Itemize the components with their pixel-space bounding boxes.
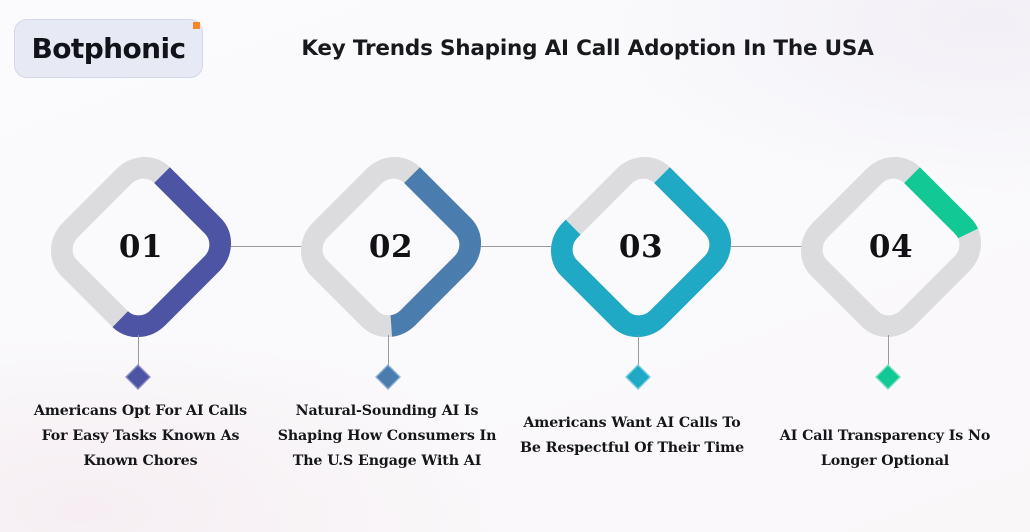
step-number-1: 01: [41, 156, 241, 338]
step-node-4[interactable]: 04: [791, 156, 991, 338]
stem-line-2: [388, 335, 390, 367]
step-node-2[interactable]: 02: [291, 156, 491, 338]
step-caption-1: Americans Opt For AI Calls For Easy Task…: [25, 399, 256, 474]
diamond-marker-1: [125, 364, 151, 390]
stem-line-3: [638, 335, 640, 367]
step-node-1[interactable]: 01: [41, 156, 241, 338]
stem-line-4: [888, 335, 890, 367]
timeline-infographic: 01 02 03 04: [0, 0, 1030, 532]
stem-line-1: [138, 335, 140, 367]
step-number-2: 02: [291, 156, 491, 338]
step-node-3[interactable]: 03: [541, 156, 741, 338]
step-caption-3: Americans Want AI Calls To Be Respectful…: [511, 411, 753, 461]
step-number-4: 04: [791, 156, 991, 338]
diamond-marker-3: [625, 364, 651, 390]
step-caption-4: AI Call Transparency Is No Longer Option…: [760, 424, 1010, 474]
diamond-marker-2: [375, 364, 401, 390]
diamond-marker-4: [875, 364, 901, 390]
step-caption-2: Natural-Sounding AI Is Shaping How Consu…: [271, 399, 503, 474]
step-number-3: 03: [541, 156, 741, 338]
